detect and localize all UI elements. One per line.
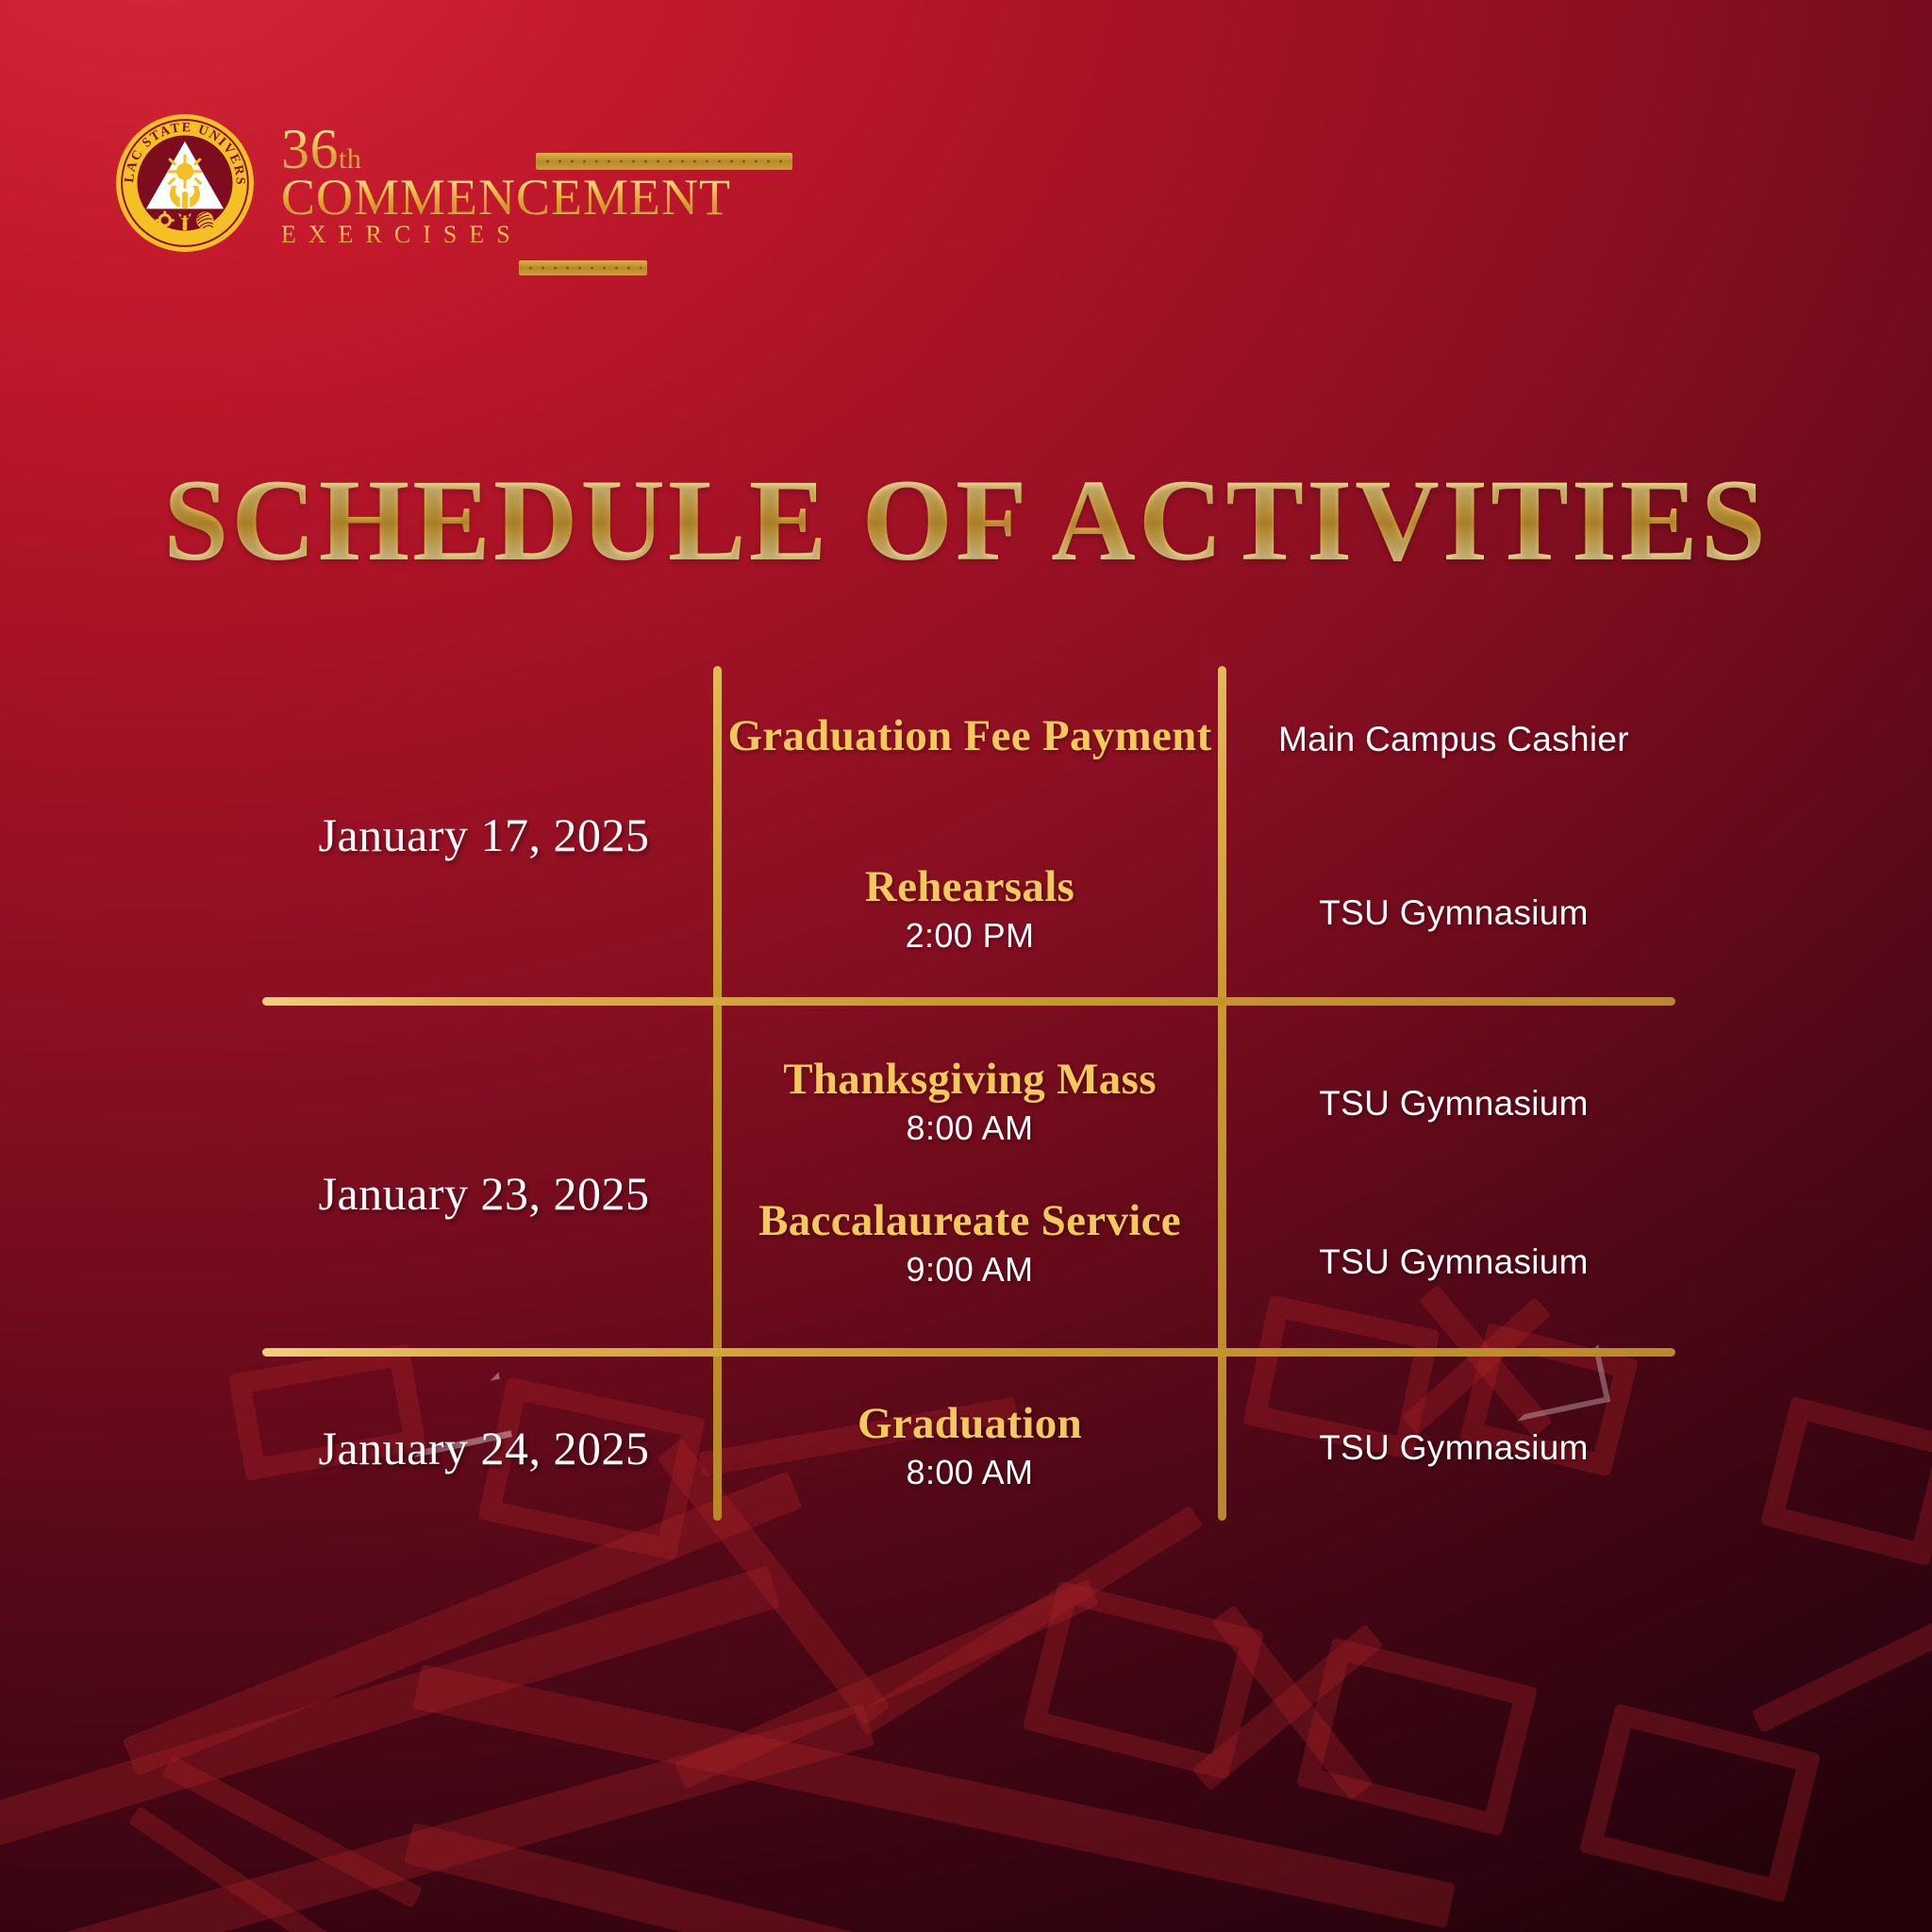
- location-name: TSU Gymnasium: [1232, 1240, 1675, 1284]
- table-cell-activity: Thanksgiving Mass 8:00 AM: [724, 1055, 1215, 1148]
- seal-icon: TARLAC STATE UNIVERSITY 1906: [113, 111, 257, 255]
- table-row-date: January 24, 2025: [262, 1421, 706, 1475]
- page-title: SCHEDULE OF ACTIVITIES: [0, 462, 1932, 579]
- activity-name: Rehearsals: [724, 862, 1215, 912]
- grid-horizontal-line-1: [262, 997, 1675, 1006]
- ornament-bar-top: [536, 153, 792, 170]
- location-name: TSU Gymnasium: [1232, 891, 1675, 935]
- activity-time: 8:00 AM: [724, 1453, 1215, 1492]
- table-cell-activity: Baccalaureate Service 9:00 AM: [724, 1196, 1215, 1290]
- table-row-date: January 23, 2025: [262, 1166, 706, 1221]
- activity-name: Thanksgiving Mass: [724, 1055, 1215, 1105]
- schedule-table: January 17, 2025 Graduation Fee Payment …: [262, 666, 1675, 1521]
- activity-time: 2:00 PM: [724, 916, 1215, 956]
- table-cell-location: Main Campus Cashier: [1232, 717, 1675, 761]
- table-cell-location: TSU Gymnasium: [1232, 1081, 1675, 1125]
- commencement-label: COMMENCEMENT: [281, 172, 731, 223]
- grid-horizontal-line-2: [262, 1348, 1675, 1357]
- university-seal-logo: TARLAC STATE UNIVERSITY 1906: [113, 111, 257, 255]
- grid-vertical-line-1: [713, 666, 722, 1521]
- activity-time: 9:00 AM: [724, 1250, 1215, 1290]
- commencement-schedule-poster: TARLAC STATE UNIVERSITY 1906: [0, 0, 1932, 1932]
- table-cell-activity: Rehearsals 2:00 PM: [724, 862, 1215, 956]
- ornament-bar-bottom: [519, 260, 647, 275]
- location-name: TSU Gymnasium: [1232, 1425, 1675, 1470]
- location-name: Main Campus Cashier: [1232, 717, 1675, 761]
- activity-time: 8:00 AM: [724, 1108, 1215, 1148]
- activity-name: Graduation: [724, 1399, 1215, 1449]
- activity-name: Baccalaureate Service: [724, 1196, 1215, 1246]
- table-cell-location: TSU Gymnasium: [1232, 1425, 1675, 1470]
- table-cell-activity: Graduation Fee Payment: [724, 711, 1215, 765]
- commencement-wordmark: 36th COMMENCEMENT EXERCISES: [281, 117, 731, 249]
- table-row-date: January 17, 2025: [262, 808, 706, 862]
- grid-vertical-line-2: [1218, 666, 1226, 1521]
- table-cell-activity: Graduation 8:00 AM: [724, 1399, 1215, 1492]
- poster-header: TARLAC STATE UNIVERSITY 1906: [113, 111, 731, 255]
- activity-name: Graduation Fee Payment: [724, 711, 1215, 761]
- table-cell-location: TSU Gymnasium: [1232, 891, 1675, 935]
- table-cell-location: TSU Gymnasium: [1232, 1240, 1675, 1284]
- location-name: TSU Gymnasium: [1232, 1081, 1675, 1125]
- edition-number: 36th: [281, 123, 361, 175]
